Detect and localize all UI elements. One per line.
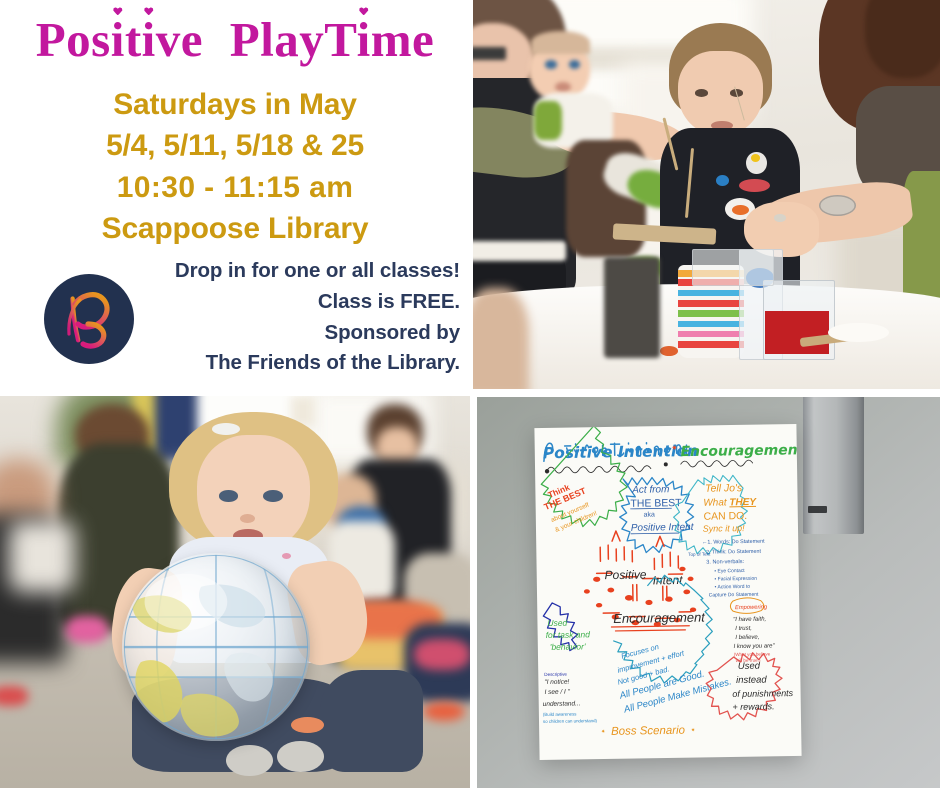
flipchart-paper: Positive Intention ✷ Encouragement Think… xyxy=(535,424,802,760)
bracelet-icon xyxy=(819,195,856,216)
poster-star-left: ✷ xyxy=(601,729,605,735)
toddler-nose xyxy=(240,514,255,523)
shirt-nasa-badge-icon xyxy=(739,179,770,192)
schedule-block: Saturdays in May 5/4, 5/11, 5/18 & 25 10… xyxy=(0,84,470,250)
poster-note-i-trust: I trust, xyxy=(735,626,752,632)
toy-red-left xyxy=(0,686,28,706)
poster-note-will-be-true: will be true.) xyxy=(736,658,761,663)
baby-hair xyxy=(531,31,589,54)
poster-note-top-of-text: Top of Text xyxy=(688,552,711,557)
bead-container xyxy=(692,249,773,286)
poster-note-i-have-faith: "I have faith, xyxy=(733,617,766,624)
landmass xyxy=(181,693,239,736)
ball-photo-canvas xyxy=(0,396,470,788)
scarf-pink xyxy=(414,639,470,670)
poster-note-step1: ←1. Words: Do Statement xyxy=(702,539,765,546)
poster-note-i-notice: "I notice! xyxy=(545,679,570,686)
cup-stripe xyxy=(678,331,743,338)
poster-note-step2: 2. Think: Do Statement xyxy=(706,549,761,556)
toddler-eye-right xyxy=(263,490,283,502)
cup-stripe xyxy=(678,310,743,317)
red-paint xyxy=(765,311,829,354)
paper-plate xyxy=(828,323,889,342)
details-line-1: Drop in for one or all classes! xyxy=(120,256,460,287)
poster-note-act-from: Act from xyxy=(631,485,669,497)
cup-stripe xyxy=(678,290,743,297)
details-line-2: Class is FREE. xyxy=(120,287,460,318)
shirt-floral xyxy=(282,553,291,559)
photo-handwritten-poster: Positive Intention ✷ Encouragement Think… xyxy=(477,397,940,788)
cup-stripe xyxy=(678,341,743,348)
globe-map-icon xyxy=(122,553,310,741)
adult-right-hair-shadow xyxy=(865,0,940,78)
poster-handwriting: Positive Intention ✷ Encouragement Think… xyxy=(535,424,802,760)
poster-note-rewards: + rewards. xyxy=(733,702,775,713)
poster-note-can-do: CAN DO. xyxy=(704,511,748,523)
poster-note-used: Used xyxy=(548,618,568,628)
schedule-line-days: Saturdays in May xyxy=(0,84,470,125)
toddler-leg-right xyxy=(320,670,423,772)
craft-photo-canvas xyxy=(473,0,940,389)
details-line-4: The Friends of the Library. xyxy=(120,348,460,379)
heart-dot-icon: i xyxy=(142,12,156,67)
details-block: Drop in for one or all classes! Class is… xyxy=(120,256,460,379)
heart-dot-icon: i xyxy=(357,12,371,67)
speaker-logo xyxy=(808,506,827,512)
poster-note-understand: understand... xyxy=(543,701,581,709)
photo-craft-table xyxy=(473,0,940,389)
toy-pink xyxy=(66,616,108,643)
poster-note-descriptive: Descriptive xyxy=(544,672,567,677)
schedule-line-time: 10:30 - 11:15 am xyxy=(0,167,470,208)
poster-note-sync-it-up: Sync it up! xyxy=(703,523,746,534)
poster-note-build-awareness: (Build awareness xyxy=(543,712,577,718)
page-title: Positive PlayTime xyxy=(0,14,470,65)
shirt-monkey-face xyxy=(732,205,749,215)
poster-note-instead: instead xyxy=(736,675,767,686)
baby-green-shirt xyxy=(534,101,562,140)
shirt-astronaut-visor xyxy=(751,154,760,162)
poster-note-what-they: What THEY xyxy=(703,497,757,509)
shirt-planet-icon xyxy=(716,175,729,186)
globe-highlight xyxy=(145,573,228,629)
poster-note-facial: • Facial Expression xyxy=(715,576,758,583)
poster-asterisk: ✷ xyxy=(672,445,678,453)
boy-eye-left xyxy=(695,89,708,96)
poster-label-positive-intent: Positive xyxy=(605,568,647,583)
details-line-3: Sponsored by xyxy=(120,318,460,349)
poster-note-behavior: 'behavior' xyxy=(550,642,586,653)
poster-note-action-word: • Action Word to xyxy=(715,584,751,591)
cup-stripe xyxy=(678,321,743,328)
poster-note-boss-scenario: Boss Scenario xyxy=(611,725,686,738)
baby-mouth xyxy=(555,82,571,92)
toddler-eye-left xyxy=(219,490,239,502)
schedule-line-dates: 5/4, 5/11, 5/18 & 25 xyxy=(0,125,470,166)
globe-ball xyxy=(122,553,310,741)
poster-note-aka: aka xyxy=(644,512,655,519)
hair-clip-icon xyxy=(212,423,240,435)
waistband xyxy=(473,241,566,260)
child-foreground-head xyxy=(473,288,529,389)
poster-note-what-you-believe: (What you believe xyxy=(734,652,771,658)
poster-note-tell-jos: Tell Jo's xyxy=(705,483,743,495)
poster-note-so-children: so children can understand) xyxy=(543,718,598,724)
poster-note-for-task: for task and xyxy=(546,630,591,641)
title-playtime: PlayTime xyxy=(230,12,435,67)
flyer-root: Positive PlayTime Positive PlayTime Satu… xyxy=(0,0,940,788)
poster-note-positive-intent-1: Positive Intent xyxy=(631,522,695,534)
schedule-line-venue: Scappoose Library xyxy=(0,208,470,249)
photo-toddler-globe xyxy=(0,396,470,788)
poster-note-i-know: I know you are" xyxy=(734,644,776,651)
title-positive: Positive xyxy=(36,12,203,67)
wall-speaker xyxy=(803,397,863,534)
poster-note-of-punishments: of punishments xyxy=(732,688,793,699)
poster-photo-canvas: Positive Intention ✷ Encouragement Think… xyxy=(477,397,940,788)
poster-note-step3: 3. Non-verbals: xyxy=(706,559,744,566)
poster-heading-encouragement: Encouragement xyxy=(681,443,802,461)
baby-eye-right xyxy=(569,60,580,69)
cup-stripe xyxy=(678,300,743,307)
poster-label-encouragement: Encouragement xyxy=(613,610,706,626)
chair-back xyxy=(604,257,660,358)
baby-eye-left xyxy=(545,60,556,69)
heart-dot-icon: i xyxy=(111,12,125,67)
landmass xyxy=(224,652,273,701)
shoe-left xyxy=(226,745,273,776)
poster-note-empowering: Empowering xyxy=(735,605,768,612)
poster-note-eye-contact: • Eye Contact xyxy=(715,568,746,574)
poster-note-i-see: I see / I " xyxy=(545,689,571,696)
poster-note-i-believe: I believe, xyxy=(736,635,760,641)
glasses-icon xyxy=(473,47,506,61)
striped-chair xyxy=(9,521,75,592)
text-panel: Positive PlayTime Positive PlayTime Satu… xyxy=(0,0,470,390)
poster-star-right: ✷ xyxy=(691,728,695,734)
